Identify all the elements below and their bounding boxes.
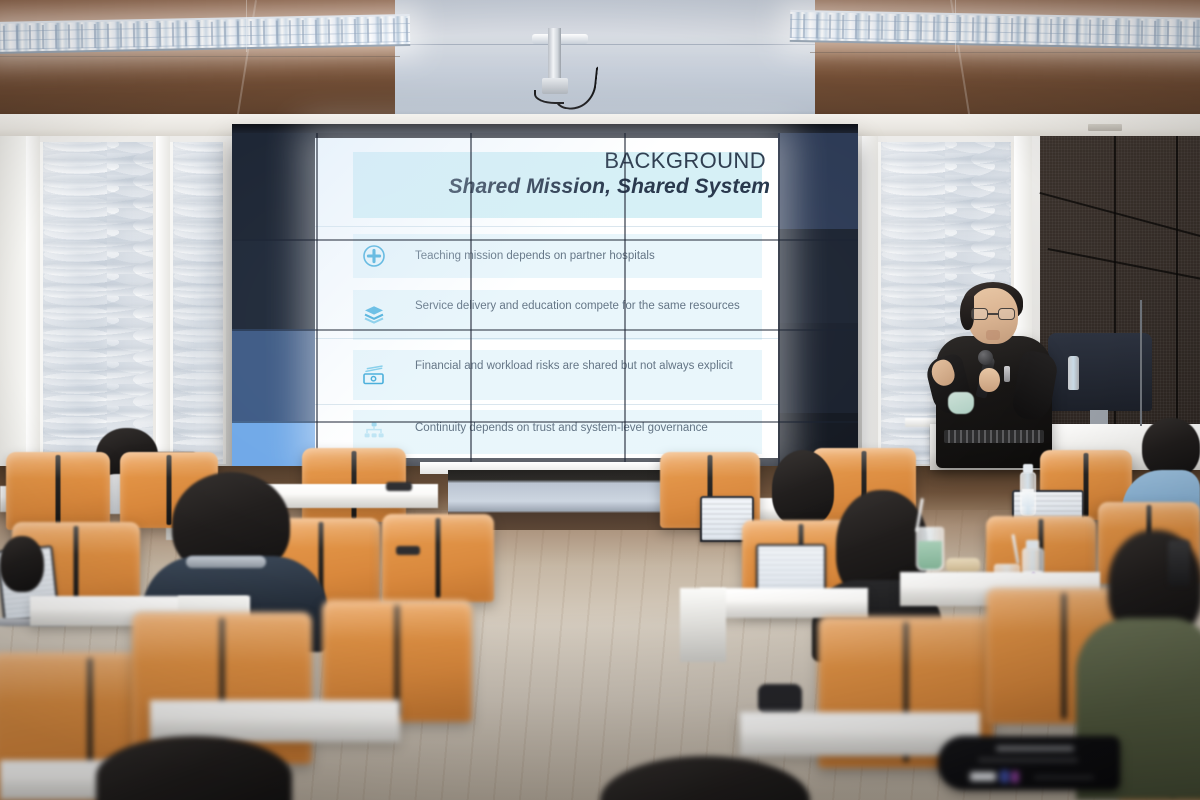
- ceiling-seam: [810, 52, 1200, 53]
- presenter-badge: [1004, 366, 1010, 382]
- medical-cross-icon: [359, 241, 389, 271]
- ceiling-light-troffer-left: [0, 14, 410, 54]
- slide-guide-line: [315, 226, 778, 227]
- wall-bay-frame: [156, 136, 170, 466]
- wavy-wall-panel-left-2: [170, 142, 226, 464]
- presentation-slide[interactable]: BACKGROUND Shared Mission, Shared System…: [315, 138, 778, 458]
- hair-clip-icon: [1168, 540, 1190, 586]
- ceiling-seam: [0, 56, 400, 57]
- stacked-layers-icon: [359, 300, 389, 330]
- water-bottle: [1020, 472, 1036, 516]
- ceiling: [0, 0, 1200, 118]
- video-wall-mullion: [232, 329, 858, 331]
- video-wall-mullion: [778, 133, 780, 496]
- bottle-cap: [1023, 464, 1033, 473]
- chair[interactable]: [382, 514, 494, 602]
- projector-cable-loop-icon: [534, 90, 564, 104]
- attendee-head: [1142, 418, 1200, 478]
- eyeglasses-icon: [971, 308, 1015, 320]
- slide-guide-line: [315, 404, 778, 405]
- video-wall-panel-l1: [232, 133, 316, 239]
- ceiling-center-light-panel: [395, 0, 815, 118]
- wall-bay-frame: [862, 136, 878, 466]
- slide-bullet-text-3: Financial and workload risks are shared …: [415, 358, 745, 374]
- wall-corner-pilaster: [0, 136, 26, 466]
- slide-bullet-text-2: Service delivery and education compete f…: [415, 298, 745, 314]
- presenter-mic-hand: [979, 368, 1000, 392]
- video-wall-mullion: [624, 133, 626, 496]
- video-wall-panel-r2: [778, 229, 858, 323]
- bottle-cap: [1026, 540, 1039, 550]
- ceiling-wire: [955, 0, 956, 52]
- monitor-stand: [1090, 410, 1108, 424]
- chair[interactable]: [6, 452, 110, 530]
- desk-microphone: [386, 482, 412, 491]
- slide-title: BACKGROUND: [604, 148, 766, 174]
- lecture-hall-scene: BACKGROUND Shared Mission, Shared System…: [0, 0, 1200, 800]
- snack-plate: [946, 558, 980, 572]
- presenter-belt: [944, 430, 1044, 443]
- face-mask-hanging: [948, 392, 974, 414]
- video-wall-mullion: [232, 421, 858, 423]
- desk-microphone: [758, 684, 802, 714]
- slide-guide-line: [315, 338, 778, 339]
- slide-bullet-text-1: Teaching mission depends on partner hosp…: [415, 248, 745, 264]
- wall-bay-frame: [26, 136, 40, 466]
- presenter-mouth: [986, 330, 1000, 340]
- desk-side-panel: [680, 588, 726, 662]
- desk-microphone: [396, 546, 420, 555]
- wavy-wall-panel-left-1: [40, 142, 156, 464]
- ceiling-light-troffer-right: [790, 10, 1200, 50]
- attendee-head: [772, 450, 834, 526]
- ceiling-vent: [1088, 124, 1122, 131]
- water-bottle: [1068, 356, 1079, 390]
- counter-monitor: [1048, 333, 1152, 411]
- video-wall-panel-r1: [778, 133, 858, 229]
- nameplate-placard: [938, 736, 1120, 790]
- video-wall-panel-l2: [232, 239, 316, 329]
- attendee-collar: [186, 556, 266, 568]
- microphone-head-icon: [978, 350, 993, 365]
- slide-subtitle: Shared Mission, Shared System: [448, 175, 770, 199]
- video-wall-mullion: [316, 133, 318, 496]
- video-wall-panel-r3: [778, 323, 858, 413]
- iced-drink-cup: [916, 527, 944, 571]
- video-wall-mullion: [232, 239, 858, 241]
- projector-cable-icon: [552, 62, 599, 112]
- video-wall-panel-l3: [232, 329, 316, 421]
- video-wall-mullion: [470, 133, 472, 496]
- video-wall-top-bezel: [232, 124, 858, 133]
- banknote-icon: [359, 360, 389, 390]
- microphone-stand: [1140, 300, 1142, 426]
- attendee-head: [0, 536, 44, 592]
- ceiling-wire: [246, 0, 247, 52]
- textile-seam: [1114, 136, 1116, 468]
- projector-mount: [524, 28, 600, 114]
- video-wall[interactable]: BACKGROUND Shared Mission, Shared System…: [232, 133, 858, 496]
